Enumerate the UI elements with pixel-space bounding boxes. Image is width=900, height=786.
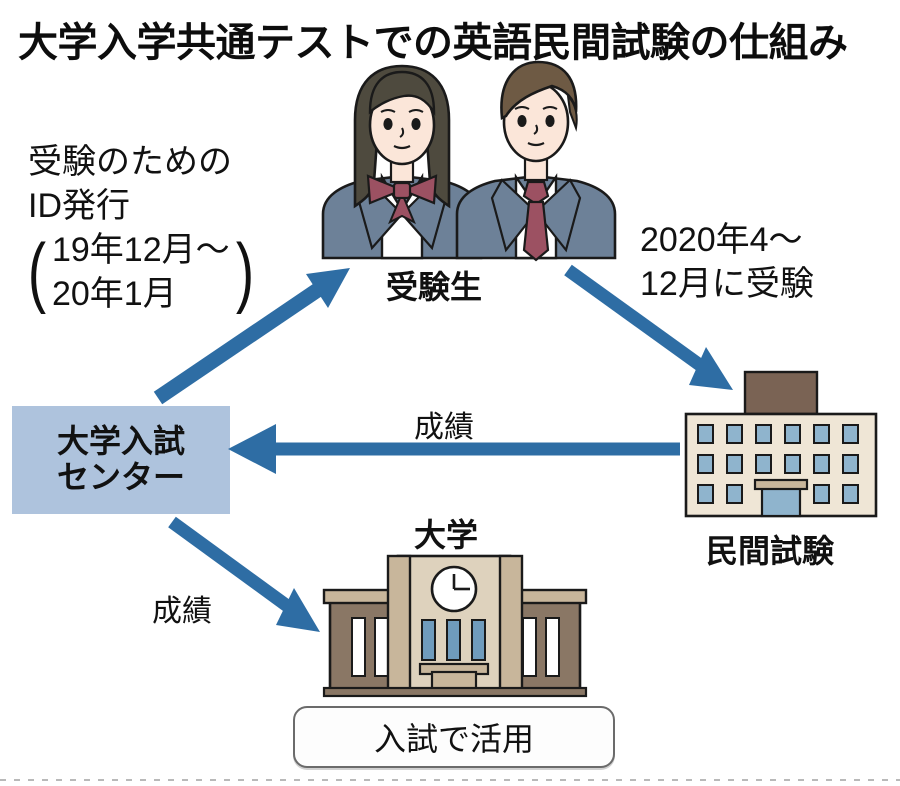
arrow-layer: [0, 0, 900, 786]
arrow-private-to-center: [228, 424, 680, 474]
arrow-center-to-students: [158, 268, 350, 398]
arrow-students-to-private: [568, 270, 733, 390]
arrow-center-to-university: [172, 522, 320, 632]
infographic-canvas: 大学入学共通テストでの英語民間試験の仕組み: [0, 0, 900, 786]
